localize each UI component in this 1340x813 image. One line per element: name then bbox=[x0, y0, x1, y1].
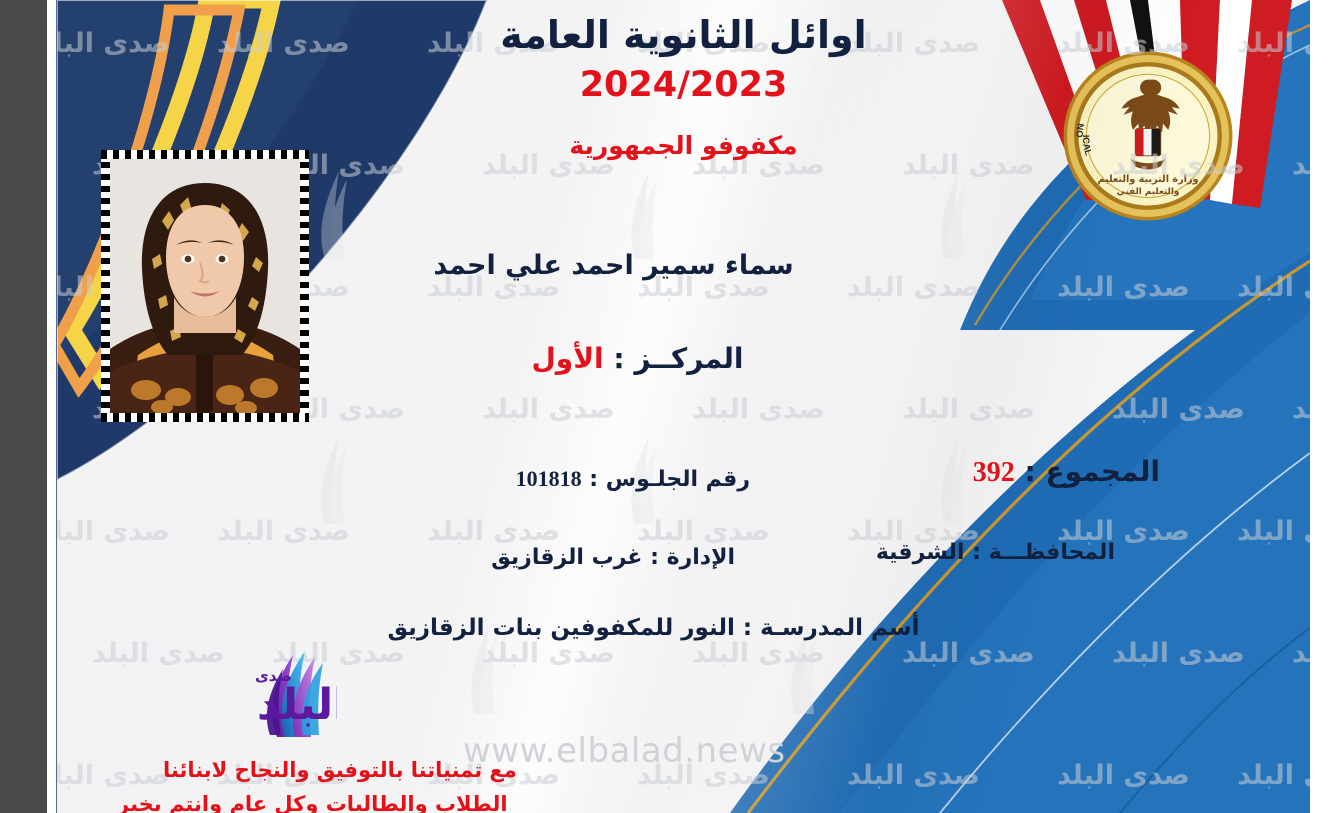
watermark-flame-icon bbox=[927, 165, 971, 261]
administration-line: الإدارة : غرب الزقازيق bbox=[491, 545, 735, 570]
watermark-text: صدى البلد bbox=[1057, 760, 1190, 791]
student-name: سماء سمير احمد علي احمد bbox=[57, 250, 1310, 281]
total-value: 392 bbox=[973, 457, 1015, 489]
watermark-text: صدى البلد bbox=[217, 516, 350, 547]
watermark-flame-icon bbox=[307, 165, 351, 261]
rank-label: المركــز : bbox=[613, 342, 743, 375]
watermark-text: صدى البلد bbox=[57, 760, 170, 791]
watermark-text: صدى البلد bbox=[427, 516, 560, 547]
watermark-text: صدى البلد bbox=[1292, 638, 1310, 669]
certificate-page: وزارة التربية والتعليم والتعليم الفني MI… bbox=[57, 0, 1310, 813]
svg-text:البلد: البلد bbox=[257, 680, 337, 730]
school-line: أسم المدرسـة : النور للمكفوفين بنات الزق… bbox=[57, 615, 1310, 641]
watermark-text: صدى البلد bbox=[482, 394, 615, 425]
school-label: أسم المدرسـة : bbox=[743, 615, 920, 641]
watermark-flame-icon bbox=[927, 430, 971, 526]
watermark-text: صدى البلد bbox=[1112, 638, 1245, 669]
administration-value: غرب الزقازيق bbox=[491, 545, 642, 570]
wish-line-2: الطلاب والطالبات وكل عام وانتم بخير bbox=[117, 792, 508, 813]
watermark-text: صدى البلد bbox=[637, 516, 770, 547]
watermark-text: صدى البلد bbox=[902, 638, 1035, 669]
watermark-text: صدى البلد bbox=[847, 760, 980, 791]
elbalad-brand-logo: البلد صدى bbox=[127, 645, 337, 743]
governorate-label: المحافظـــة : bbox=[972, 540, 1115, 565]
watermark-text: صدى البلد bbox=[1112, 394, 1245, 425]
watermark-text: صدى البلد bbox=[1237, 760, 1310, 791]
watermark-text: صدى البلد bbox=[1292, 394, 1310, 425]
page-title: اوائل الثانوية العامة bbox=[57, 14, 1310, 58]
watermark-text: صدى البلد bbox=[692, 394, 825, 425]
svg-text:وزارة التربية والتعليم: وزارة التربية والتعليم bbox=[1097, 174, 1198, 185]
watermark-text: صدى البلد bbox=[1237, 516, 1310, 547]
watermark-text: صدى البلد bbox=[902, 394, 1035, 425]
svg-text:والتعليم الفني: والتعليم الفني bbox=[1117, 187, 1180, 197]
rank-value: الأول bbox=[532, 342, 604, 375]
viewer-left-gutter bbox=[0, 0, 47, 813]
academic-year: 2024/2023 bbox=[57, 65, 1310, 105]
bottom-right-blue-swoosh-decoration bbox=[690, 253, 1310, 813]
administration-label: الإدارة : bbox=[650, 545, 735, 570]
viewer-right-margin bbox=[1310, 0, 1340, 813]
seat-label: رقم الجلـوس : bbox=[589, 467, 750, 492]
document-viewer: وزارة التربية والتعليم والتعليم الفني MI… bbox=[0, 0, 1340, 813]
watermark-flame-icon bbox=[307, 430, 351, 526]
student-photo-frame bbox=[101, 150, 309, 422]
svg-text:صدى: صدى bbox=[255, 667, 292, 685]
total-score-line: المجموع : 392 bbox=[973, 455, 1160, 489]
viewer-gutter-gap bbox=[47, 0, 56, 813]
watermark-text: صدى البلد bbox=[482, 638, 615, 669]
seat-value: 101818 bbox=[516, 466, 582, 492]
total-label: المجموع : bbox=[1025, 455, 1160, 488]
wish-line-1: مع تمنياتنا بالتوفيق والنجاح لابنائنا bbox=[163, 758, 517, 782]
school-value: النور للمكفوفين بنات الزقازيق bbox=[387, 615, 734, 641]
watermark-text: صدى البلد bbox=[692, 638, 825, 669]
watermark-flame-icon bbox=[617, 165, 661, 261]
rank-line: المركــز : الأول bbox=[57, 342, 1310, 375]
title-block: اوائل الثانوية العامة 2024/2023 مكفوفو ا… bbox=[57, 14, 1310, 160]
governorate-value: الشرقية bbox=[876, 540, 965, 565]
governorate-line: المحافظـــة : الشرقية bbox=[876, 540, 1115, 565]
seat-number-line: رقم الجلـوس : 101818 bbox=[516, 466, 750, 492]
watermark-text: صدى البلد bbox=[57, 516, 170, 547]
